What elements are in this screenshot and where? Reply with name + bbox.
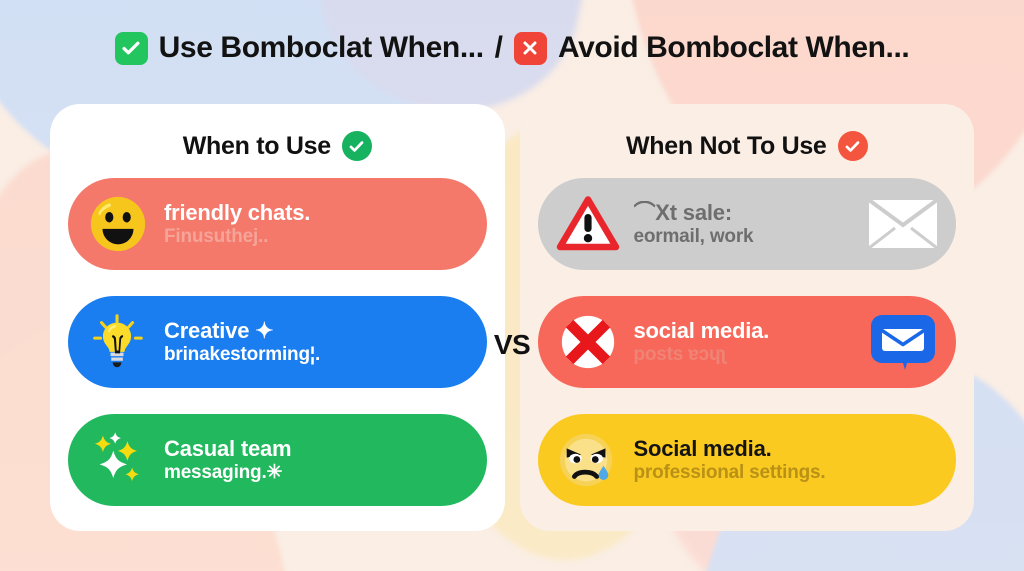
header-title-right: Avoid Bomboclat When... (558, 31, 909, 65)
header-title-left: Use Bomboclat When... (159, 31, 484, 65)
list-item-subtitle: posts ɐɔɥʅ (634, 344, 853, 365)
list-item-text: friendly chats. Finusuthej.. (164, 201, 471, 248)
list-item-text: social media. posts ɐɔɥʅ (634, 319, 853, 366)
grinning-face-emoji (86, 192, 150, 256)
list-item-title: social media. (634, 319, 853, 344)
panel-title-avoid: When Not To Use (626, 132, 827, 161)
panel-when-to-use: When to Use (50, 104, 505, 531)
list-item-subtitle: eormail, work (634, 226, 853, 247)
check-circle-icon (342, 131, 372, 161)
lightbulb-emoji (86, 310, 150, 374)
list-item-subtitle: professional settings. (634, 462, 941, 483)
list-item-title: Creative ✦ (164, 319, 471, 344)
vs-divider-label: VS (494, 329, 530, 361)
list-item-casual-team-messaging[interactable]: Casual team messaging.✳ (68, 414, 487, 506)
list-item-social-media-posts[interactable]: social media. posts ɐɔɥʅ (538, 296, 957, 388)
list-item-title: friendly chats. (164, 201, 471, 226)
check-square-icon (115, 32, 148, 65)
list-item-text: Creative ✦ brinakestorming¦. (164, 319, 471, 366)
list-item-creative-brainstorming[interactable]: Creative ✦ brinakestorming¦. (68, 296, 487, 388)
panel-when-not-to-use: When Not To Use ⌒Xt sale: (520, 104, 975, 531)
page-header: Use Bomboclat When... / Avoid Bomboclat … (0, 31, 1024, 65)
list-item-title: Casual team (164, 437, 471, 462)
list-item-friendly-chats[interactable]: friendly chats. Finusuthej.. (68, 178, 487, 270)
list-item-subtitle: messaging.✳ (164, 462, 471, 483)
avoid-pill-list: ⌒Xt sale: eormail, work (538, 178, 957, 506)
warning-triangle-emoji (556, 192, 620, 256)
list-item-title: Social media. (634, 437, 941, 462)
infographic-canvas: Use Bomboclat When... / Avoid Bomboclat … (0, 0, 1024, 571)
list-item-title: ⌒Xt sale: (634, 201, 853, 226)
list-item-subtitle: Finusuthej.. (164, 226, 471, 247)
list-item-work-sale-email[interactable]: ⌒Xt sale: eormail, work (538, 178, 957, 270)
angry-crying-face-emoji (556, 428, 620, 492)
envelope-blue-icon (866, 313, 940, 371)
envelope-icon (866, 197, 940, 251)
panel-title-row-use: When to Use (183, 124, 372, 168)
list-item-text: Casual team messaging.✳ (164, 437, 471, 484)
list-item-subtitle: brinakestorming¦. (164, 344, 471, 365)
cross-mark-emoji (556, 310, 620, 374)
x-square-icon (514, 32, 547, 65)
list-item-text: ⌒Xt sale: eormail, work (634, 201, 853, 248)
comparison-panels: When to Use (50, 104, 974, 531)
panel-title-use: When to Use (183, 132, 331, 161)
header-separator: / (495, 31, 503, 65)
list-item-text: Social media. professional settings. (634, 437, 941, 484)
list-item-social-media-professional[interactable]: Social media. professional settings. (538, 414, 957, 506)
check-circle-icon (838, 131, 868, 161)
use-pill-list: friendly chats. Finusuthej.. (68, 178, 487, 506)
panel-title-row-avoid: When Not To Use (626, 124, 868, 168)
sparkles-emoji (86, 428, 150, 492)
